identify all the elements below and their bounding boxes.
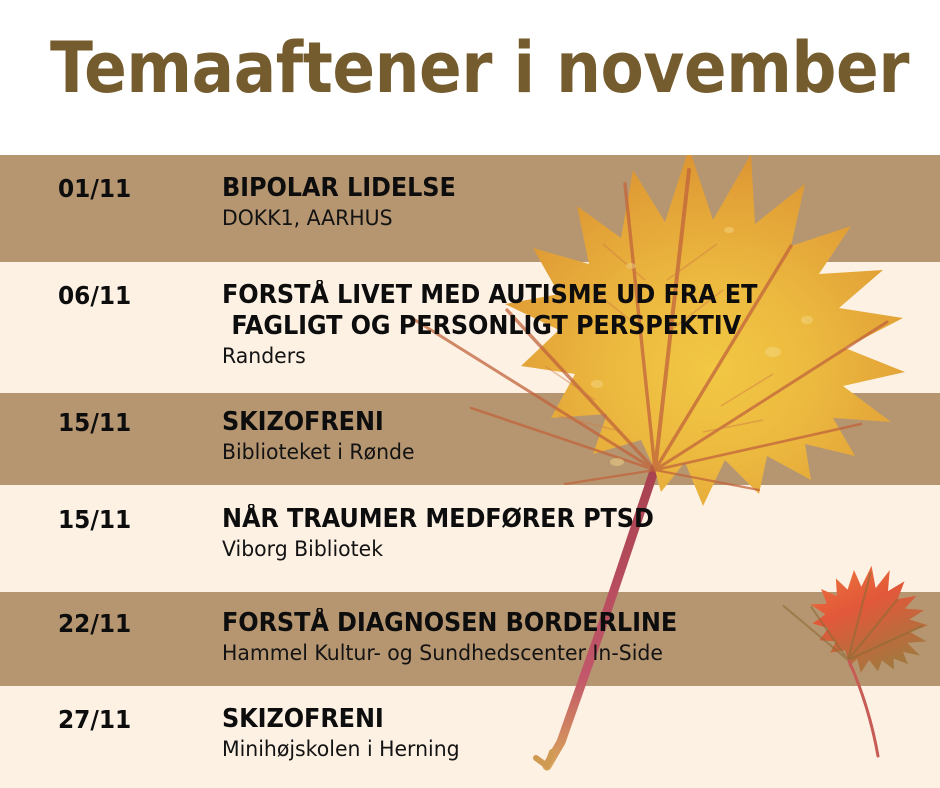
event-venue: Hammel Kultur- og Sundhedscenter In-Side xyxy=(222,641,895,667)
event-venue: Viborg Bibliotek xyxy=(222,537,895,563)
event-title: SKIZOFRENI xyxy=(222,704,888,735)
event-details: SKIZOFRENIBiblioteket i Rønde xyxy=(222,407,930,466)
event-title-line: FORSTÅ LIVET MED AUTISME UD FRA ET xyxy=(222,280,888,311)
event-date: 22/11 xyxy=(58,610,131,638)
schedule-row[interactable]: 27/11SKIZOFRENIMinihøjskolen i Herning xyxy=(0,686,940,788)
event-venue: Randers xyxy=(222,344,895,370)
page-title: Temaaftener i november xyxy=(50,22,909,114)
event-venue: DOKK1, AARHUS xyxy=(222,206,895,232)
event-title: SKIZOFRENI xyxy=(222,407,888,438)
event-venue: Minihøjskolen i Herning xyxy=(222,737,895,763)
title-band: Temaaftener i november xyxy=(0,0,940,155)
schedule-row[interactable]: 06/11FORSTÅ LIVET MED AUTISME UD FRA ETF… xyxy=(0,262,940,393)
event-details: NÅR TRAUMER MEDFØRER PTSDViborg Bibliote… xyxy=(222,504,930,563)
event-title-line: SKIZOFRENI xyxy=(222,407,888,438)
schedule-row[interactable]: 01/11BIPOLAR LIDELSEDOKK1, AARHUS xyxy=(0,155,940,262)
event-details: SKIZOFRENIMinihøjskolen i Herning xyxy=(222,704,930,763)
schedule-row[interactable]: 15/11NÅR TRAUMER MEDFØRER PTSDViborg Bib… xyxy=(0,485,940,592)
event-title-line: FORSTÅ DIAGNOSEN BORDERLINE xyxy=(222,608,888,639)
event-venue: Biblioteket i Rønde xyxy=(222,440,895,466)
event-title: FORSTÅ LIVET MED AUTISME UD FRA ETFAGLIG… xyxy=(222,280,888,342)
event-date: 06/11 xyxy=(58,282,131,310)
schedule-row[interactable]: 15/11SKIZOFRENIBiblioteket i Rønde xyxy=(0,393,940,485)
event-title: FORSTÅ DIAGNOSEN BORDERLINE xyxy=(222,608,888,639)
event-title-line: FAGLIGT OG PERSONLIGT PERSPEKTIV xyxy=(222,311,888,342)
event-date: 15/11 xyxy=(58,409,131,437)
schedule-row[interactable]: 22/11FORSTÅ DIAGNOSEN BORDERLINEHammel K… xyxy=(0,592,940,686)
event-title: NÅR TRAUMER MEDFØRER PTSD xyxy=(222,504,888,535)
event-title-line: NÅR TRAUMER MEDFØRER PTSD xyxy=(222,504,888,535)
event-date: 27/11 xyxy=(58,706,131,734)
poster: Temaaftener i november 01/11BIPOLAR LIDE… xyxy=(0,0,940,788)
event-date: 15/11 xyxy=(58,506,131,534)
event-details: FORSTÅ DIAGNOSEN BORDERLINEHammel Kultur… xyxy=(222,608,930,667)
event-title: BIPOLAR LIDELSE xyxy=(222,173,888,204)
event-details: FORSTÅ LIVET MED AUTISME UD FRA ETFAGLIG… xyxy=(222,280,930,370)
event-title-line: BIPOLAR LIDELSE xyxy=(222,173,888,204)
schedule-list: 01/11BIPOLAR LIDELSEDOKK1, AARHUS06/11FO… xyxy=(0,155,940,788)
event-title-line: SKIZOFRENI xyxy=(222,704,888,735)
event-details: BIPOLAR LIDELSEDOKK1, AARHUS xyxy=(222,173,930,232)
event-date: 01/11 xyxy=(58,175,131,203)
